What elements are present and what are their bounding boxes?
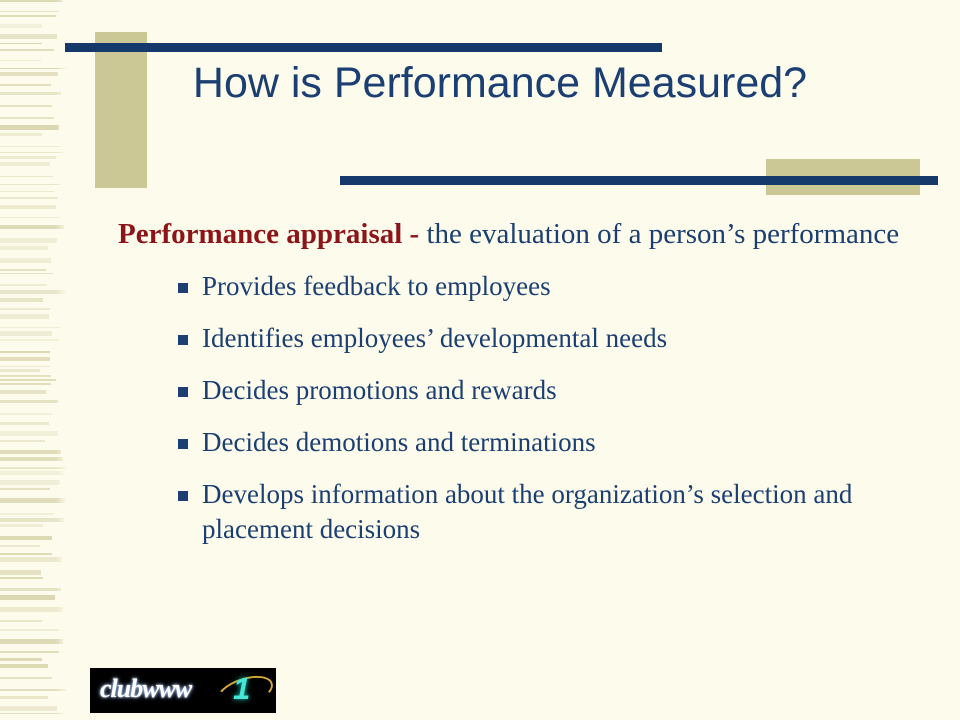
- list-item: Develops information about the organizat…: [118, 477, 928, 547]
- stripe-line: [0, 369, 40, 372]
- stripe-line: [0, 34, 57, 39]
- stripe-line: [0, 331, 52, 336]
- bullet-list: Provides feedback to employees Identifie…: [118, 269, 928, 547]
- stripe-line: [0, 629, 59, 631]
- stripe-line: [0, 713, 63, 714]
- stripe-line: [0, 197, 58, 199]
- stripe-line: [0, 314, 49, 319]
- stripe-line: [0, 379, 56, 381]
- square-bullet-icon: [178, 491, 188, 501]
- stripe-line: [0, 156, 56, 159]
- stripe-line: [0, 217, 60, 218]
- stripe-line: [0, 238, 57, 243]
- stripe-line: [0, 357, 50, 361]
- stripe-line: [0, 607, 63, 612]
- stripe-line: [0, 0, 63, 2]
- square-bullet-icon: [178, 439, 188, 449]
- clubwww1-logo: clubwww 1: [90, 668, 276, 713]
- stripe-line: [0, 651, 59, 653]
- stripe-line: [0, 696, 48, 699]
- list-item: Decides promotions and rewards: [118, 373, 928, 408]
- stripe-line: [0, 431, 58, 436]
- stripe-line: [0, 43, 42, 44]
- logo-numeral: 1: [233, 671, 250, 707]
- lead-paragraph: Performance appraisal - the evaluation o…: [118, 216, 928, 253]
- square-bullet-icon: [178, 387, 188, 397]
- list-item-label: Provides feedback to employees: [202, 269, 928, 304]
- stripe-line: [0, 440, 45, 442]
- stripe-line: [0, 400, 58, 403]
- stripe-line: [0, 620, 42, 622]
- stripe-line: [0, 72, 58, 76]
- stripe-line: [0, 15, 56, 17]
- stripe-line: [0, 117, 54, 119]
- stripe-line: [0, 480, 60, 485]
- stripe-line: [0, 146, 62, 147]
- list-item: Decides demotions and terminations: [118, 425, 928, 460]
- left-stripe-decoration: [0, 0, 70, 720]
- stripe-line: [0, 658, 42, 661]
- stripe-line: [0, 92, 61, 95]
- lead-rest: the evaluation of a person’s performance: [426, 218, 899, 250]
- header-navy-bar-top: [65, 43, 662, 52]
- list-item-label: Identifies employees’ developmental need…: [202, 321, 928, 356]
- stripe-line: [0, 557, 62, 562]
- stripe-line: [0, 639, 63, 644]
- list-item: Identifies employees’ developmental need…: [118, 321, 928, 356]
- stripe-line: [0, 524, 43, 527]
- stripe-line: [0, 258, 51, 263]
- square-bullet-icon: [178, 283, 188, 293]
- stripe-line: [0, 327, 61, 328]
- stripe-line: [0, 49, 54, 51]
- list-item-label: Develops information about the organizat…: [202, 477, 928, 547]
- stripe-line: [0, 677, 52, 679]
- stripe-line: [0, 513, 54, 515]
- stripe-line: [0, 162, 50, 166]
- stripe-line: [0, 60, 41, 61]
- stripe-line: [0, 246, 48, 250]
- stripe-line: [0, 588, 61, 591]
- stripe-line: [0, 205, 56, 209]
- stripe-line: [0, 152, 63, 153]
- stripe-line: [0, 553, 52, 555]
- header-tan-block-left: [95, 32, 147, 188]
- header-navy-bar-bottom: [340, 176, 938, 185]
- stripe-line: [0, 595, 55, 600]
- list-item-label: Decides promotions and rewards: [202, 373, 928, 408]
- stripe-line: [0, 413, 52, 415]
- stripe-line: [0, 125, 59, 130]
- stripe-line: [0, 184, 60, 185]
- stripe-line: [0, 84, 51, 86]
- stripe-line: [0, 450, 61, 454]
- stripe-line: [0, 269, 46, 271]
- square-bullet-icon: [178, 335, 188, 345]
- list-item-label: Decides demotions and terminations: [202, 425, 928, 460]
- stripe-line: [0, 545, 40, 547]
- presentation-slide: How is Performance Measured? Performance…: [0, 0, 960, 720]
- lead-term: Performance appraisal -: [118, 218, 426, 250]
- stripe-line: [0, 273, 53, 274]
- stripe-line: [0, 375, 51, 377]
- stripe-line: [0, 471, 64, 475]
- stripe-line: [0, 536, 52, 540]
- stripe-line: [0, 664, 48, 668]
- slide-body: Performance appraisal - the evaluation o…: [118, 216, 928, 564]
- stripe-line: [0, 176, 53, 177]
- stripe-line: [0, 11, 59, 12]
- stripe-line: [0, 488, 50, 490]
- list-item: Provides feedback to employees: [118, 269, 928, 304]
- slide-title: How is Performance Measured?: [150, 58, 850, 108]
- stripe-line: [0, 422, 49, 425]
- stripe-line: [0, 706, 57, 711]
- stripe-line: [0, 570, 41, 575]
- stripe-line: [0, 105, 52, 107]
- stripe-line: [0, 308, 50, 310]
- stripe-line: [0, 366, 50, 367]
- logo-wordmark: clubwww: [100, 674, 191, 704]
- stripe-line: [0, 351, 50, 353]
- stripe-line: [0, 577, 43, 579]
- stripe-line: [0, 339, 59, 341]
- stripe-line: [0, 390, 46, 394]
- stripe-fade-overlay: [56, 0, 70, 720]
- stripe-line: [0, 457, 63, 461]
- stripe-line: [0, 191, 54, 192]
- stripe-line: [0, 383, 51, 385]
- stripe-line: [0, 225, 64, 229]
- stripe-line: [0, 24, 42, 28]
- stripe-line: [0, 298, 43, 302]
- stripe-line: [0, 133, 42, 136]
- stripe-line: [0, 284, 47, 286]
